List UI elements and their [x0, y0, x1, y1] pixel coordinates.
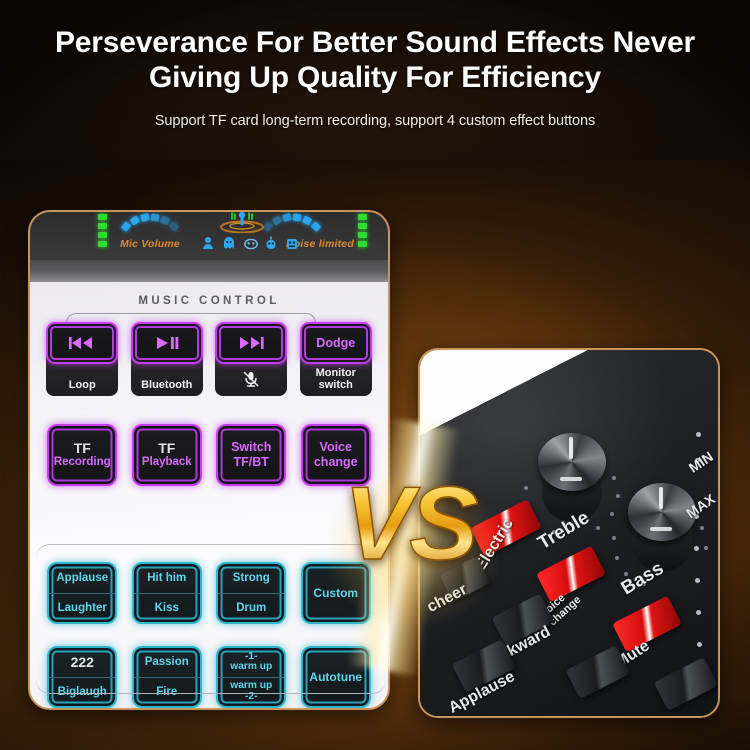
- previous-track-button[interactable]: [46, 322, 118, 364]
- display-inner-panel: Mic Volume Noise limited: [30, 212, 388, 260]
- switch-tf-bt-line1: Switch: [231, 440, 271, 455]
- tf-recording-button[interactable]: TF Recording: [47, 424, 117, 486]
- voice-effect-icon-row: [202, 236, 298, 250]
- voice-change-line1: Voice: [320, 440, 352, 455]
- play-pause-button[interactable]: [131, 322, 203, 364]
- left-sound-card-device[interactable]: Mic Volume Noise limited: [28, 210, 390, 710]
- warmup-button[interactable]: -1- warm up warm up -2-: [216, 646, 286, 708]
- custom-label: Custom: [303, 564, 369, 622]
- section-divider: [36, 544, 386, 560]
- led-segment: [358, 214, 367, 220]
- led-segment: [98, 241, 107, 247]
- passion-label: Passion: [134, 648, 200, 678]
- subheadline-text: Support TF card long-term recording, sup…: [0, 113, 750, 129]
- mute-button-cell[interactable]: [215, 322, 287, 364]
- passion-fire-button[interactable]: Passion Fire: [132, 646, 202, 708]
- bluetooth-button-cell[interactable]: Bluetooth: [131, 322, 203, 364]
- led-segment: [358, 232, 367, 238]
- led-bar-left: [98, 214, 107, 247]
- monster-icon: [286, 236, 298, 250]
- led-segment: [98, 232, 107, 238]
- laughter-label: Laughter: [49, 594, 115, 623]
- strong-drum-button[interactable]: Strong Drum: [216, 562, 286, 624]
- kiss-label: Kiss: [134, 594, 200, 623]
- sound-wave-emblem-icon: [218, 211, 266, 233]
- hithim-label: Hit him: [134, 564, 200, 594]
- noise-limit-arc-meter: [262, 212, 326, 234]
- led-segment: [98, 214, 107, 220]
- voice-change-button[interactable]: Voice change: [301, 424, 371, 486]
- voice-change-line2: change: [314, 455, 358, 470]
- effects-button-row-1: Applause Laughter Hit him Kiss Strong Dr…: [30, 562, 388, 624]
- ghost-icon: [223, 236, 235, 250]
- header: Perseverance For Better Sound Effects Ne…: [0, 0, 750, 160]
- robot-icon: [265, 236, 277, 250]
- led-bar-right: [358, 214, 367, 247]
- play-pause-icon: [155, 336, 179, 350]
- switch-tf-bt-button[interactable]: Switch TF/BT: [216, 424, 286, 486]
- tf-playback-button[interactable]: TF Playback: [132, 424, 202, 486]
- led-segment: [98, 223, 107, 229]
- dodge-button[interactable]: Dodge: [300, 322, 372, 364]
- cartoon-face-icon: [244, 236, 256, 250]
- previous-track-icon: [69, 336, 95, 350]
- 222-label: 222: [49, 648, 115, 678]
- applause-laughter-button[interactable]: Applause Laughter: [47, 562, 117, 624]
- dodge-label: Dodge: [316, 336, 355, 350]
- warmup1-label: -1- warm up: [218, 648, 284, 678]
- music-control-button-row: Loop Bluetooth: [30, 322, 388, 364]
- mute-mic-icon: [242, 370, 260, 392]
- strong-label: Strong: [218, 564, 284, 594]
- led-segment: [358, 223, 367, 229]
- next-track-icon: [238, 336, 264, 350]
- mic-volume-arc-meter: [120, 212, 184, 234]
- tf-function-button-row: TF Recording TF Playback Switch TF/BT Vo…: [30, 424, 388, 486]
- biglaugh-button[interactable]: 222 Biglaugh: [47, 646, 117, 708]
- panel-bottom-divider: [36, 680, 386, 694]
- monitor-switch-button-cell[interactable]: Monitor switch Dodge: [300, 322, 372, 364]
- loop-button-cell[interactable]: Loop: [46, 322, 118, 364]
- tf-recording-line1: TF: [74, 440, 91, 457]
- next-track-button[interactable]: [215, 322, 287, 364]
- autotune-label: Autotune: [303, 648, 369, 706]
- device-control-panel: MUSIC CONTROL Loop Bluetooth: [30, 282, 388, 710]
- monitor-switch-text: Monitor switch: [316, 368, 356, 392]
- voice-person-icon: [202, 236, 214, 250]
- music-control-section-label: MUSIC CONTROL: [30, 295, 388, 307]
- led-segment: [358, 241, 367, 247]
- tf-playback-line1: TF: [158, 440, 175, 457]
- tf-playback-line2: Playback: [142, 456, 192, 470]
- hithim-kiss-button[interactable]: Hit him Kiss: [132, 562, 202, 624]
- side-dot-scale: [692, 396, 706, 696]
- custom-button[interactable]: Custom: [301, 562, 371, 624]
- applause-label: Applause: [49, 564, 115, 594]
- tf-recording-line2: Recording: [54, 456, 111, 470]
- right-product-photo-panel: Treble Bass MIN MAX Electric cheer voice…: [418, 348, 720, 718]
- effects-button-row-2: 222 Biglaugh Passion Fire -1- warm up wa…: [30, 646, 388, 708]
- autotune-button[interactable]: Autotune: [301, 646, 371, 708]
- switch-tf-bt-line2: TF/BT: [234, 455, 269, 470]
- mic-volume-label: Mic Volume: [120, 238, 180, 250]
- drum-label: Drum: [218, 594, 284, 623]
- device-display-screen: Mic Volume Noise limited: [30, 212, 388, 282]
- headline-text: Perseverance For Better Sound Effects Ne…: [0, 26, 750, 96]
